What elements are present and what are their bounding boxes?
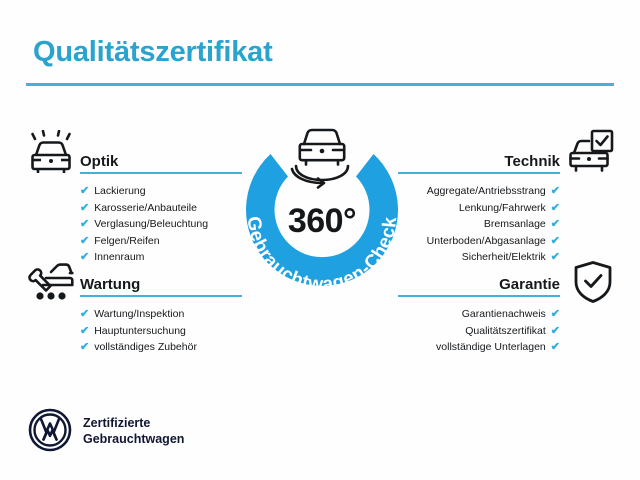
section-wartung-divider xyxy=(80,295,242,297)
list-item: ✔Wartung/Inspektion xyxy=(80,306,250,323)
list-item-label: Lackierung xyxy=(94,185,145,197)
section-garantie-title: Garantie xyxy=(499,276,560,293)
check-icon: ✔ xyxy=(551,200,560,217)
list-item-label: Verglasung/Beleuchtung xyxy=(94,218,208,230)
list-item-label: vollständiges Zubehör xyxy=(94,341,197,353)
list-item-label: Aggregate/Antriebsstrang xyxy=(427,185,546,197)
list-item-label: Karosserie/Anbauteile xyxy=(94,202,197,214)
check-icon: ✔ xyxy=(551,233,560,250)
check-icon: ✔ xyxy=(80,306,89,323)
car-checkbox-icon xyxy=(566,128,616,176)
list-item-label: Wartung/Inspektion xyxy=(94,308,184,320)
list-item-label: Garantienachweis xyxy=(462,308,546,320)
check-icon: ✔ xyxy=(551,323,560,340)
check-icon: ✔ xyxy=(80,249,89,266)
footer-line-2: Gebrauchtwagen xyxy=(83,431,184,447)
check-icon: ✔ xyxy=(551,306,560,323)
section-optik-list: ✔Lackierung ✔Karosserie/Anbauteile ✔Verg… xyxy=(80,183,250,266)
360-check-badge: Gebrauchtwagen-Check 360° xyxy=(228,118,416,306)
section-technik-title: Technik xyxy=(504,153,560,170)
list-item-label: Sicherheit/Elektrik xyxy=(462,251,546,263)
footer-line-1: Zertifizierte xyxy=(83,415,184,431)
check-icon: ✔ xyxy=(80,216,89,233)
badge-center-label: 360° xyxy=(228,202,416,241)
check-icon: ✔ xyxy=(80,200,89,217)
list-item: ✔Karosserie/Anbauteile xyxy=(80,200,250,217)
section-garantie-list: Garantienachweis✔ Qualitätszertifikat✔ v… xyxy=(390,306,560,356)
section-optik-divider xyxy=(80,172,242,174)
list-item-label: Bremsanlage xyxy=(484,218,546,230)
list-item: vollständige Unterlagen✔ xyxy=(390,339,560,356)
footer-text: Zertifizierte Gebrauchtwagen xyxy=(83,415,184,447)
section-garantie-divider xyxy=(398,295,560,297)
section-wartung: Wartung ✔Wartung/Inspektion ✔Hauptunters… xyxy=(80,267,250,356)
check-icon: ✔ xyxy=(551,183,560,200)
list-item: Qualitätszertifikat✔ xyxy=(390,323,560,340)
certificate-page: Qualitätszertifikat Optik ✔Lackierung ✔K… xyxy=(0,0,640,480)
list-item: ✔vollständiges Zubehör xyxy=(80,339,250,356)
check-icon: ✔ xyxy=(80,339,89,356)
shield-check-icon xyxy=(570,258,616,306)
list-item-label: Unterboden/Abgasanlage xyxy=(427,235,546,247)
list-item: ✔Hauptuntersuchung xyxy=(80,323,250,340)
check-icon: ✔ xyxy=(80,233,89,250)
page-title: Qualitätszertifikat xyxy=(33,36,273,69)
car-rotate-icon xyxy=(282,122,362,190)
section-wartung-header: Wartung xyxy=(80,267,250,297)
check-icon: ✔ xyxy=(80,323,89,340)
check-icon: ✔ xyxy=(551,339,560,356)
list-item-label: Lenkung/Fahrwerk xyxy=(459,202,546,214)
section-optik-title: Optik xyxy=(80,153,118,170)
list-item-label: Qualitätszertifikat xyxy=(465,325,546,337)
section-optik-header: Optik xyxy=(80,144,250,174)
list-item-label: Hauptuntersuchung xyxy=(94,325,186,337)
list-item: ✔Lackierung xyxy=(80,183,250,200)
list-item: ✔Felgen/Reifen xyxy=(80,233,250,250)
section-wartung-list: ✔Wartung/Inspektion ✔Hauptuntersuchung ✔… xyxy=(80,306,250,356)
section-optik: Optik ✔Lackierung ✔Karosserie/Anbauteile… xyxy=(80,144,250,266)
list-item: Garantienachweis✔ xyxy=(390,306,560,323)
check-icon: ✔ xyxy=(551,216,560,233)
list-item: ✔Verglasung/Beleuchtung xyxy=(80,216,250,233)
vw-logo xyxy=(28,408,72,457)
list-item-label: vollständige Unterlagen xyxy=(436,341,546,353)
list-item-label: Felgen/Reifen xyxy=(94,235,159,247)
section-technik-divider xyxy=(398,172,560,174)
list-item-label: Innenraum xyxy=(94,251,144,263)
section-wartung-title: Wartung xyxy=(80,276,140,293)
list-item: ✔Innenraum xyxy=(80,249,250,266)
check-icon: ✔ xyxy=(551,249,560,266)
title-divider xyxy=(26,83,614,86)
check-icon: ✔ xyxy=(80,183,89,200)
car-wrench-icon xyxy=(26,258,76,306)
car-shine-icon xyxy=(26,130,76,178)
